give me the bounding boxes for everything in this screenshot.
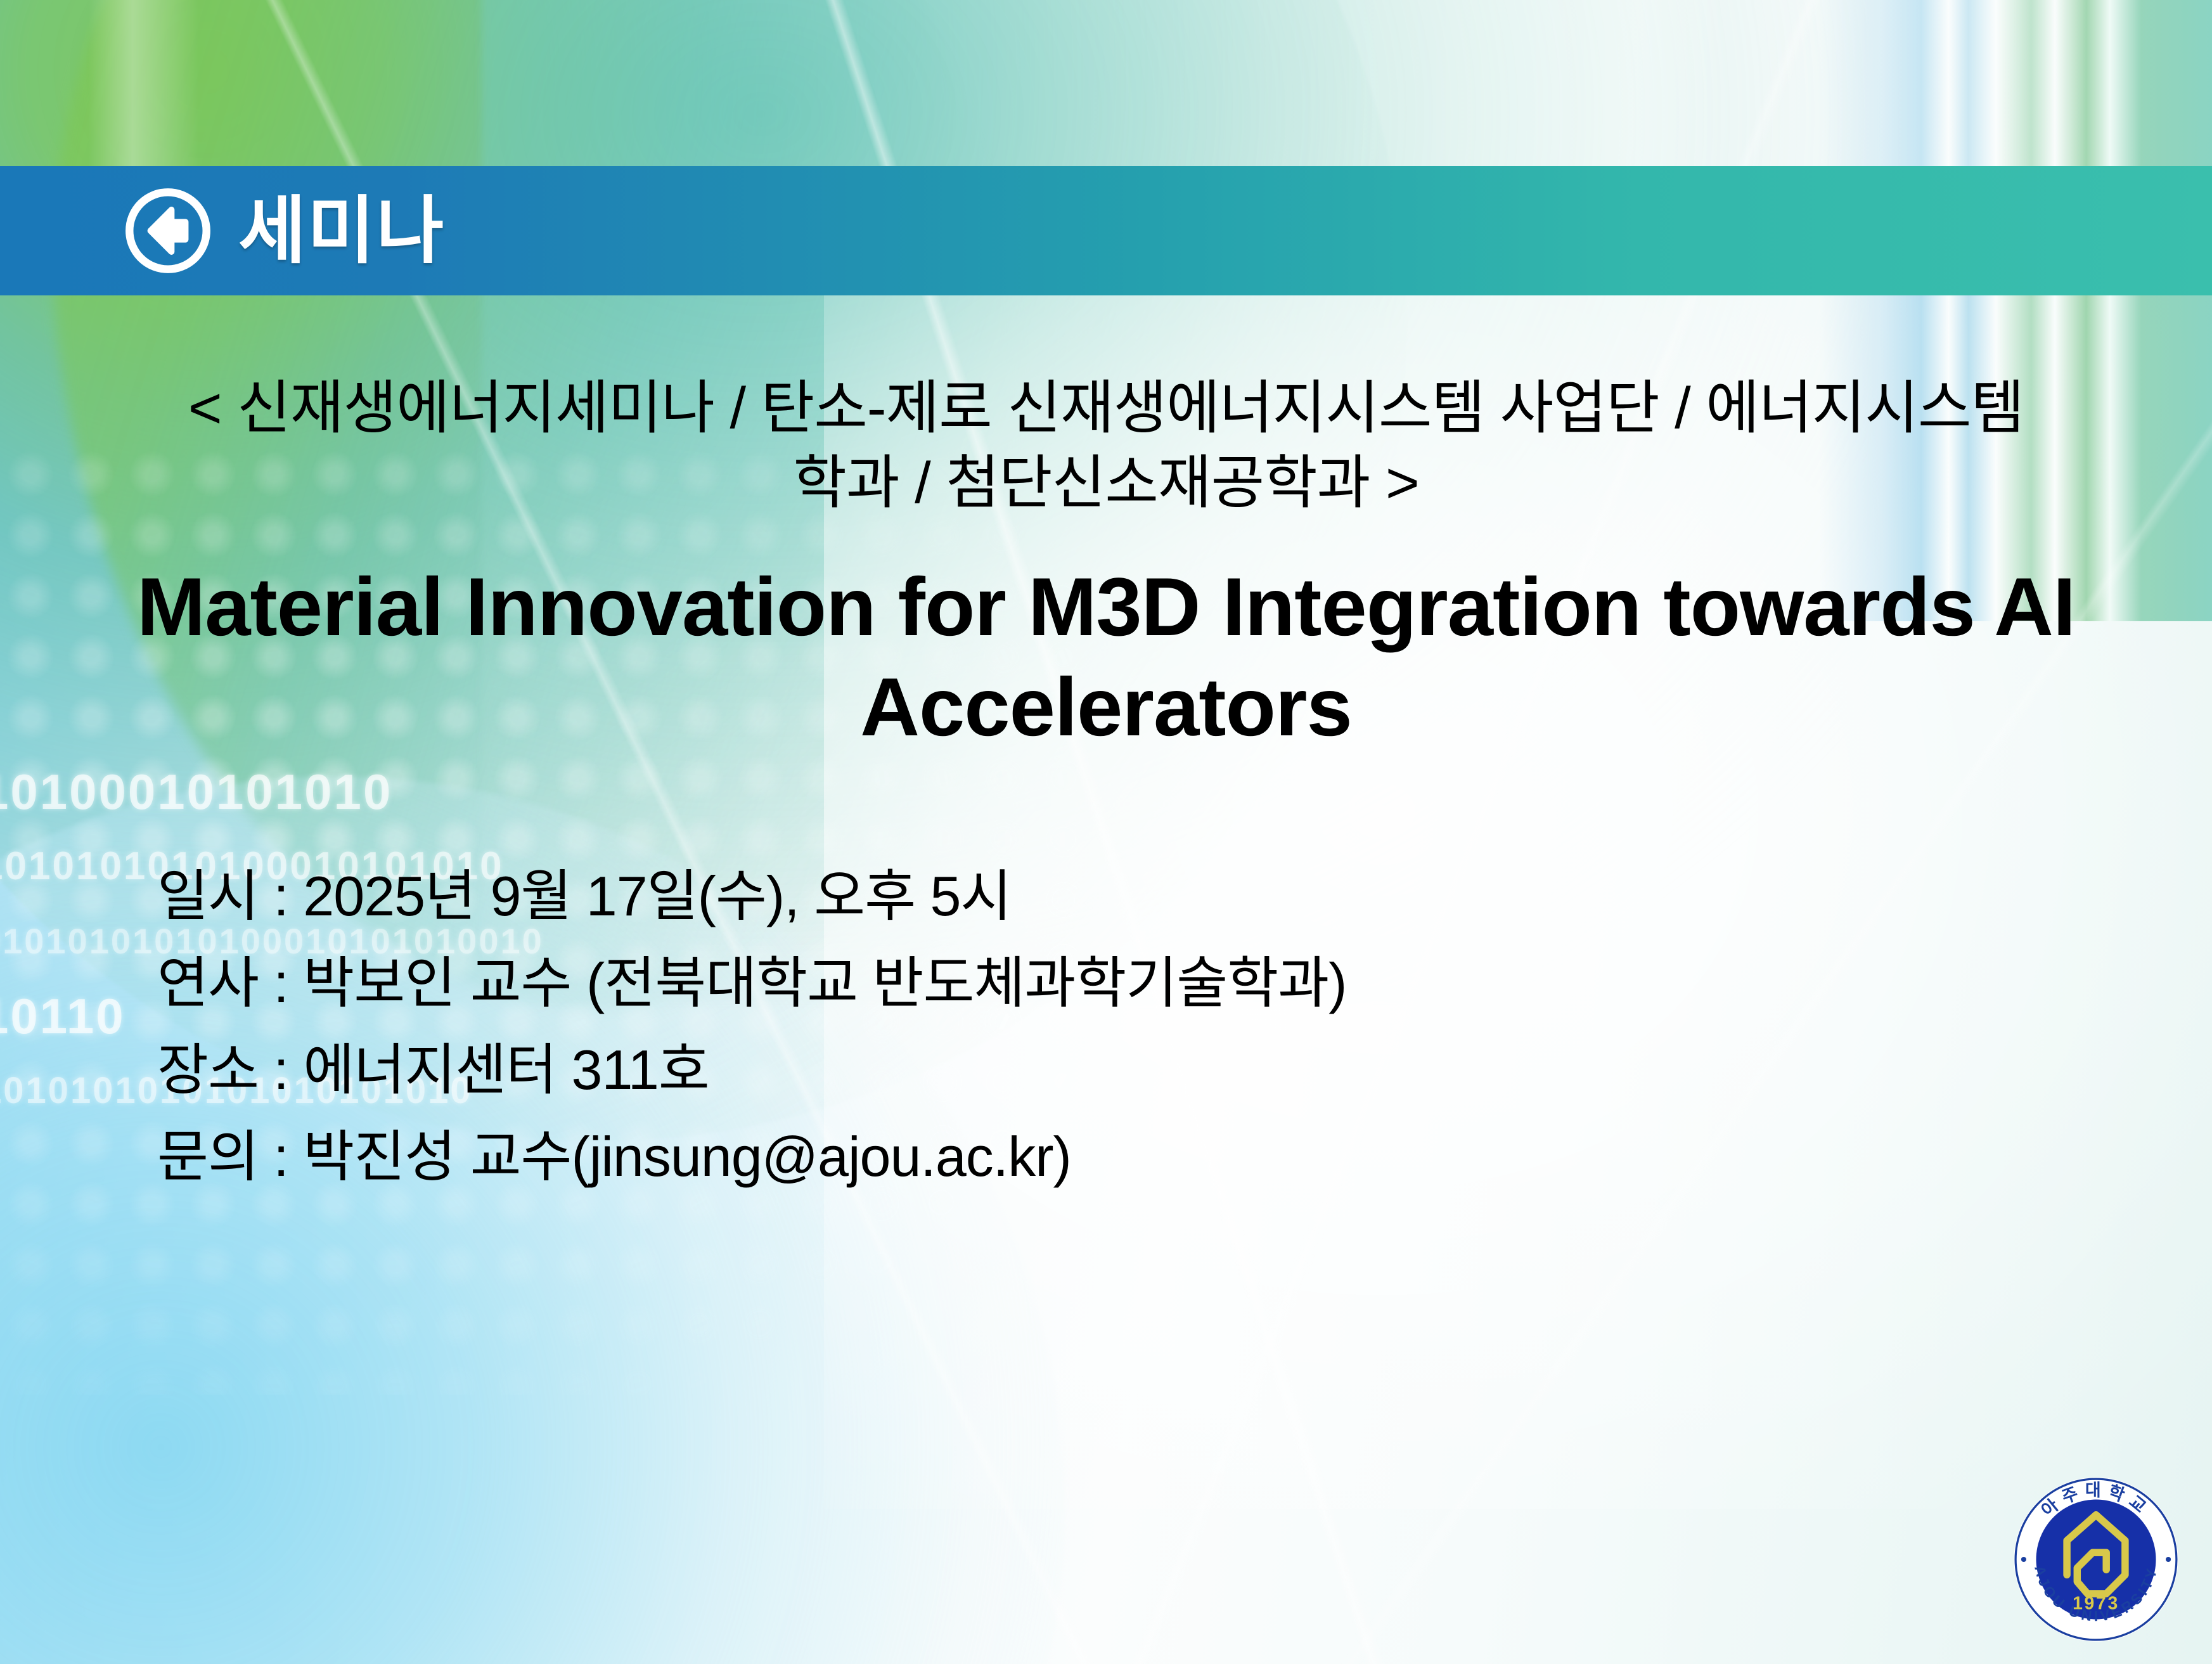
- detail-item-speaker: 연사 : 박보인 교수 (전북대학교 반도체과학기술학과): [157, 939, 2212, 1026]
- ajou-university-logo: 아주대학교 AJOU UNIVERSITY 1973: [2010, 1474, 2182, 1645]
- detail-item-datetime: 일시 : 2025년 9월 17일(수), 오후 5시: [157, 853, 2212, 939]
- poster-detail-list: 일시 : 2025년 9월 17일(수), 오후 5시 연사 : 박보인 교수 …: [0, 758, 2212, 1201]
- header-bar: 세미나: [0, 166, 2212, 295]
- detail-item-contact: 문의 : 박진성 교수(jinsung@ajou.ac.kr): [157, 1113, 2212, 1200]
- header-title: 세미나: [238, 194, 445, 268]
- poster-title: Material Innovation for M3D Integration …: [0, 521, 2212, 758]
- circle-left-arrow-icon[interactable]: [124, 187, 212, 274]
- poster-content: < 신재생에너지세미나 / 탄소-제로 신재생에너지시스템 사업단 / 에너지시…: [0, 295, 2212, 1201]
- detail-item-venue: 장소 : 에너지센터 311호: [157, 1026, 2212, 1113]
- background-top-strip: [0, 0, 2212, 166]
- seminar-poster-slide: 10100010101010 1010101010100010101010 01…: [0, 0, 2212, 1664]
- logo-founded-year: 1973: [2073, 1593, 2119, 1613]
- poster-subtitle: < 신재생에너지세미나 / 탄소-제로 신재생에너지시스템 사업단 / 에너지시…: [0, 295, 2212, 521]
